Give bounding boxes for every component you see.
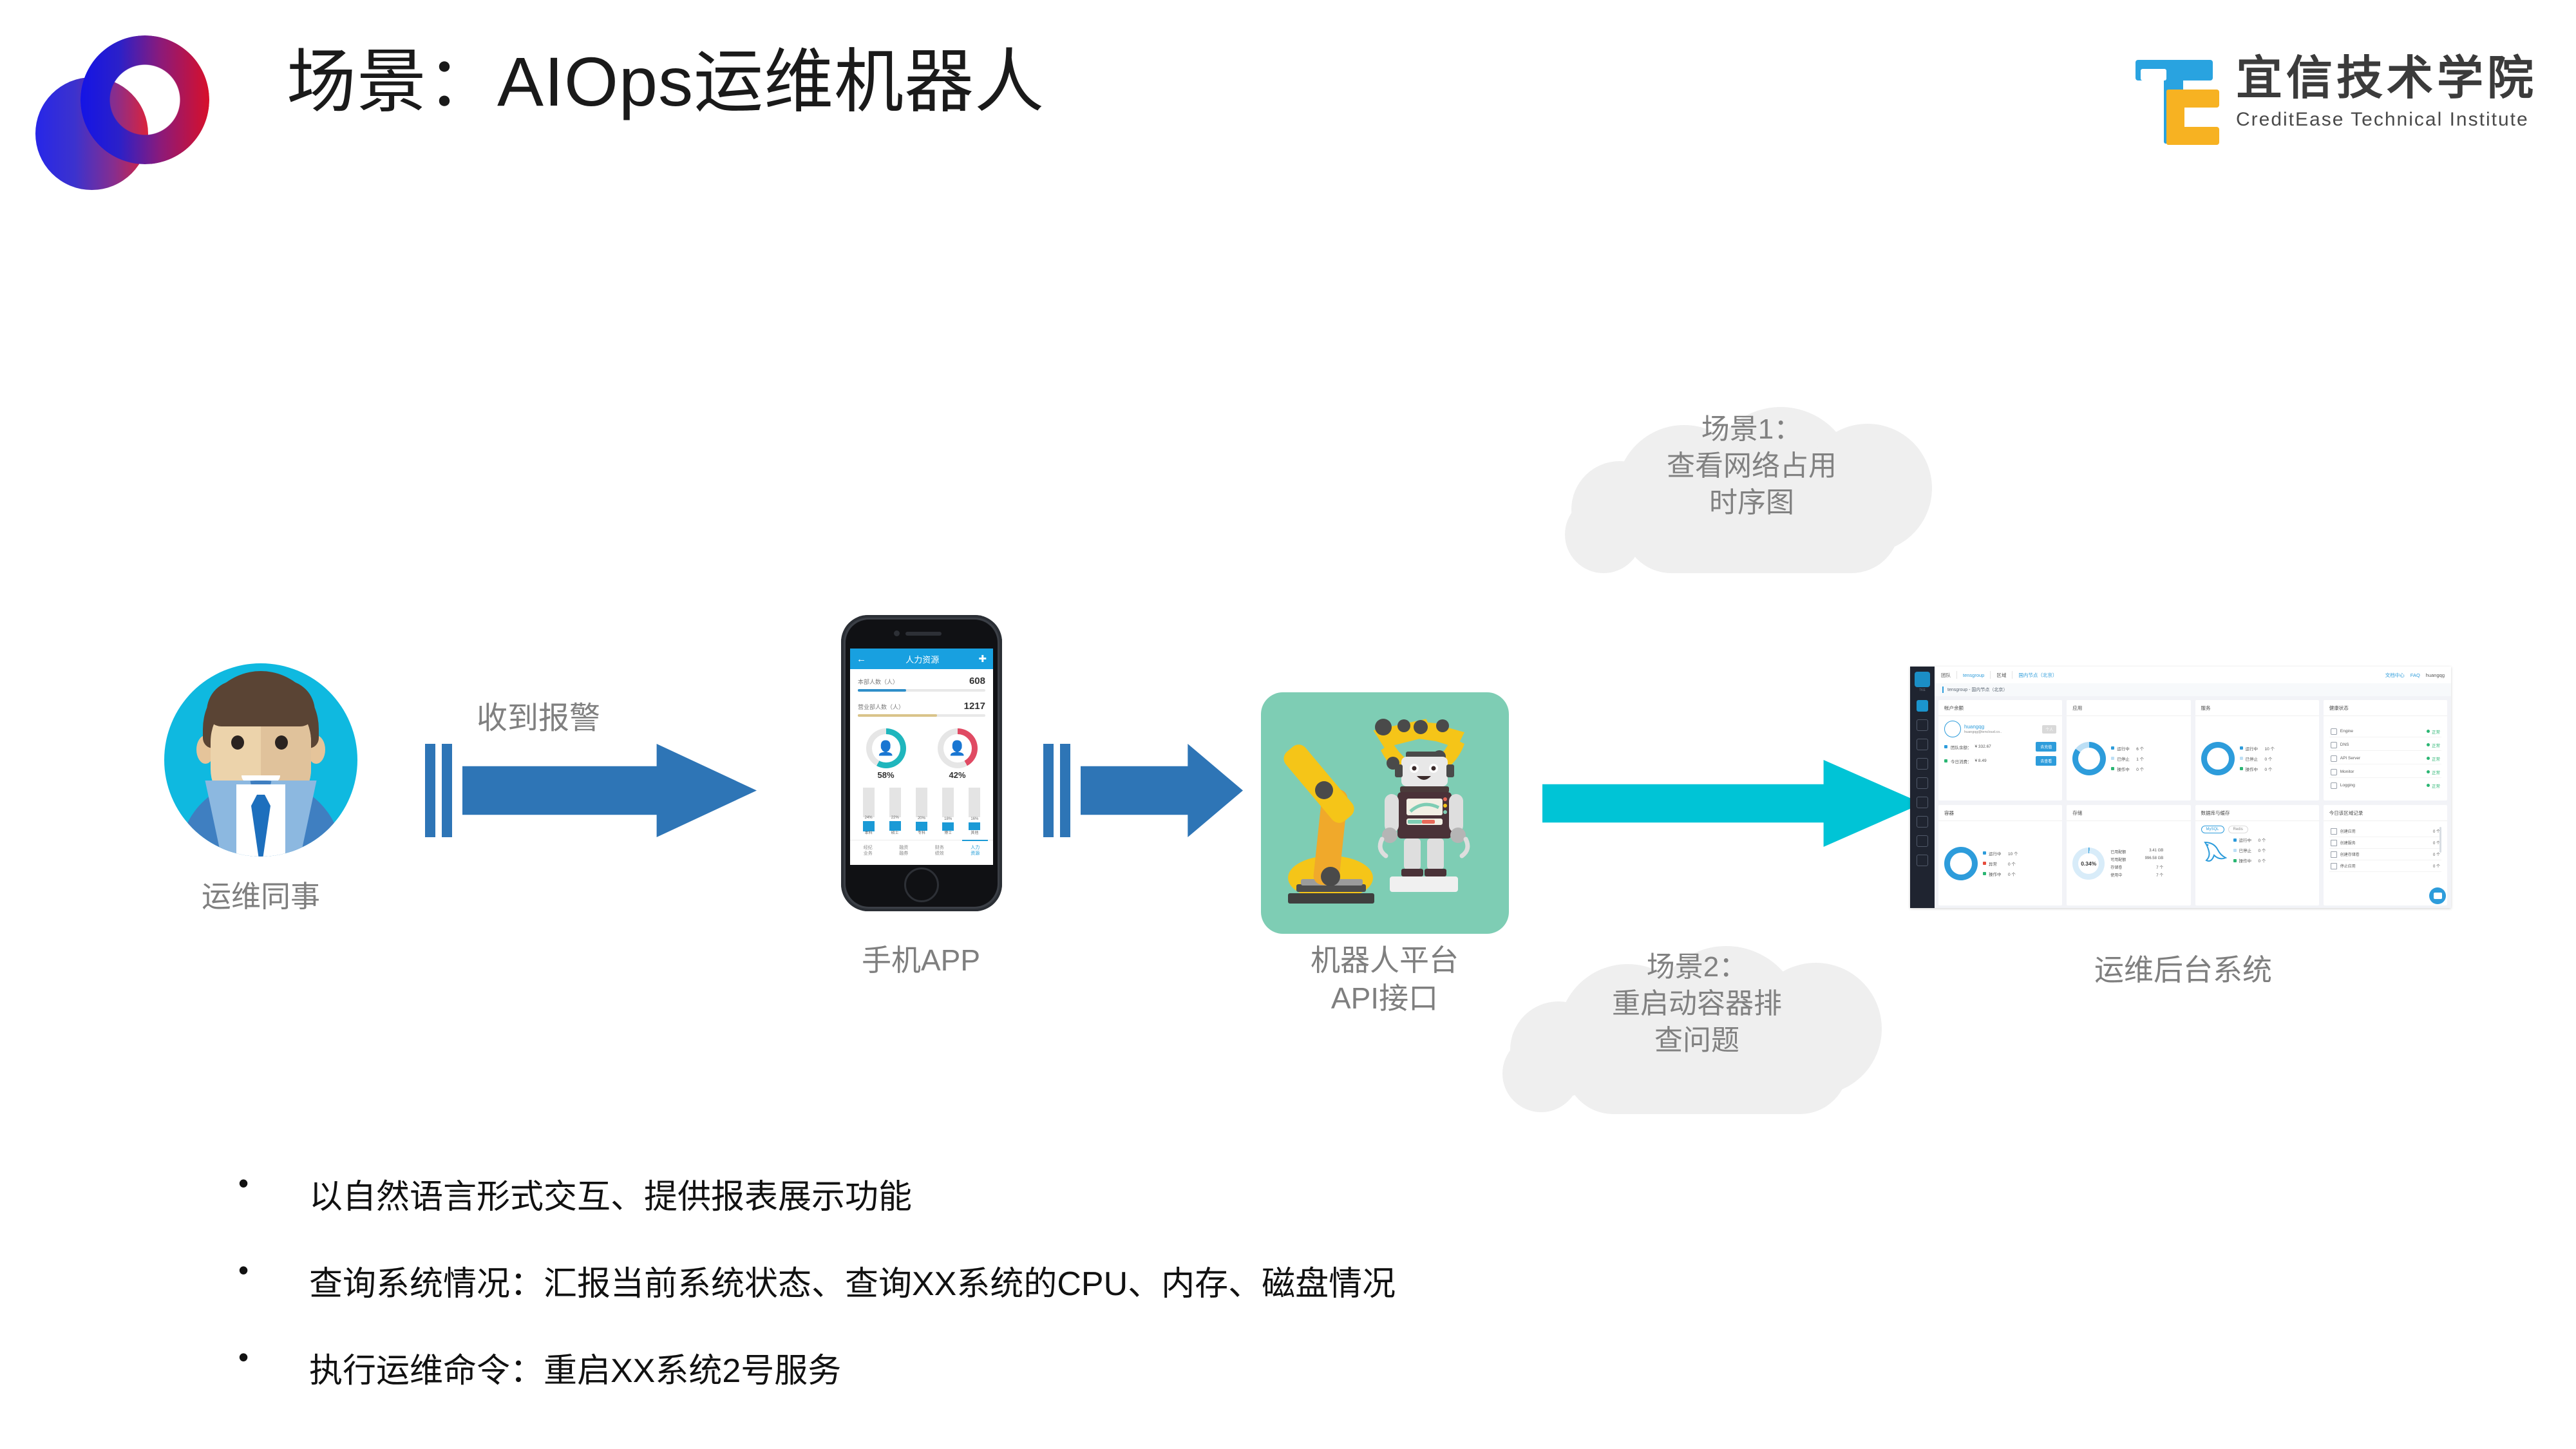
storage-value: 7 个 — [2156, 864, 2163, 870]
card-title: 应用 — [2067, 700, 2190, 716]
bar-percent: 24% — [861, 816, 876, 820]
bar-category: 硕士 — [887, 829, 903, 835]
bar-percent: 22% — [887, 816, 903, 820]
legend-name: 操作中 — [2246, 766, 2262, 772]
overlapping-circles-logo — [35, 35, 209, 196]
arrow-receive-alert — [425, 744, 757, 837]
sidebar-account-icon[interactable] — [1917, 835, 1928, 847]
bar-percent: 20% — [914, 817, 929, 820]
sidebar-apps-icon[interactable] — [1917, 719, 1928, 731]
bar-item: 20% 专科 — [914, 788, 929, 834]
gauge-male: 👤 58% — [862, 728, 910, 780]
sidebar-monitor-icon[interactable] — [1917, 816, 1928, 828]
tc-monogram-icon — [2136, 55, 2219, 145]
console-logo-label: TKE — [1910, 688, 1935, 692]
console-logo-icon — [1915, 672, 1930, 687]
legend-value: 10 个 — [2265, 745, 2275, 752]
legend-name: 运行中 — [2117, 745, 2134, 752]
ops-colleague: 运维同事 — [161, 663, 361, 916]
brand-name-en: CreditEase Technical Institute — [2236, 109, 2537, 131]
gauge-male-value: 58% — [862, 770, 910, 780]
legend-value: 0 个 — [2008, 871, 2016, 877]
breadcrumb: tensgroup - 国内节点（北京） — [1935, 683, 2451, 696]
tab-hr[interactable]: 人力资源 — [958, 840, 994, 865]
legend-name: 运行中 — [1989, 850, 2005, 857]
scenario-2-cloud: 场景2： 重启动容器排 查问题 — [1484, 937, 1909, 1117]
card-title: 数据库与缓存 — [2195, 805, 2319, 821]
tab-financing[interactable]: 融资融券 — [886, 840, 922, 865]
education-bar-chart: 24% 本科 22% 硕士 20% 专科 — [850, 788, 993, 834]
logo-ring — [80, 35, 209, 164]
card-title: 今日该区域记录 — [2324, 805, 2447, 821]
page-title: 场景：AIOps运维机器人 — [287, 40, 1045, 124]
sidebar-database-icon[interactable] — [1917, 777, 1928, 789]
health-status: 正常 — [2432, 782, 2440, 789]
record-name: 停止应用 — [2340, 863, 2430, 869]
recharge-button[interactable]: 去充值 — [2036, 742, 2056, 752]
storage-key: 可用配额 — [2110, 857, 2126, 862]
mobile-app-mockup: ← 人力资源 ✚ 本部人数（人） 608 营业部人数（人） 1217 — [841, 615, 1002, 911]
health-name: Logging — [2340, 783, 2423, 788]
tab-finance[interactable]: 财务绩效 — [922, 840, 958, 865]
today-spend-label: 今日消费： — [1951, 758, 1972, 764]
earpiece-speaker — [905, 632, 942, 636]
view-button[interactable]: 去查看 — [2036, 756, 2056, 766]
card-title: 容器 — [1938, 805, 2062, 821]
card-storage: 存储 0.34% 已用配额3.41 GB 可用配额996.58 GB 存储卷7 … — [2067, 805, 2190, 905]
api-server-icon — [2331, 755, 2337, 762]
card-applications: 应用 运行中6 个 已停止1 个 操作中0 个 — [2067, 700, 2190, 800]
health-name: Monitor — [2340, 770, 2423, 774]
plus-icon[interactable]: ✚ — [978, 653, 987, 665]
avatar — [1944, 721, 1961, 737]
mysql-dolphin-icon — [2201, 837, 2230, 863]
storage-value: 996.58 GB — [2145, 857, 2164, 862]
sidebar-service-icon[interactable] — [1917, 739, 1928, 750]
bar-category: 本科 — [861, 829, 876, 835]
app-header: ← 人力资源 ✚ — [850, 649, 993, 669]
sidebar-deploy-icon[interactable] — [1917, 855, 1928, 866]
list-item: 查询系统情况：汇报当前系统状态、查询XX系统的CPU、内存、磁盘情况 — [238, 1256, 2363, 1305]
bar-percent: 18% — [940, 817, 956, 821]
legend-value: 0 个 — [2259, 857, 2266, 864]
team-balance-value: ¥ 332.67 — [1975, 744, 1991, 749]
legend-name: 运行中 — [2239, 837, 2256, 843]
bar-item: 16% 其他 — [967, 788, 982, 834]
app-tabbar: 经纪业务 融资融券 财务绩效 人力资源 — [850, 840, 993, 865]
services-donut-chart — [2201, 742, 2235, 775]
bullet-list: 以自然语言形式交互、提供报表展示功能 查询系统情况：汇报当前系统状态、查询XX系… — [213, 1170, 2363, 1430]
storage-key: 已用配额 — [2110, 849, 2126, 855]
card-title: 健康状态 — [2324, 700, 2447, 716]
legend-value: 10 个 — [2008, 850, 2018, 857]
sidebar-storage-icon[interactable] — [1917, 797, 1928, 808]
legend-value: 0 个 — [2136, 766, 2144, 772]
ops-colleague-label: 运维同事 — [161, 873, 361, 916]
list-item: 执行运维命令：重启XX系统2号服务 — [238, 1343, 2363, 1392]
legend-name: 运行中 — [2246, 745, 2262, 752]
slide: 场景：AIOps运维机器人 宜信技术学院 CreditEase Technica… — [0, 0, 2576, 1449]
stop-app-icon — [2331, 863, 2337, 869]
card-health-status: 健康状态 Engine正常 DNS正常 API Server正常 Monitor… — [2324, 700, 2447, 800]
businessman-avatar-icon — [164, 663, 357, 857]
bar-category: 专科 — [914, 829, 929, 835]
user-menu[interactable]: huangqg — [2426, 672, 2445, 678]
stat-row: 营业部人数（人） 1217 — [850, 694, 993, 719]
legend-value: 0 个 — [2259, 847, 2266, 853]
record-name: 创建应用 — [2340, 828, 2430, 834]
legend-value: 1 个 — [2136, 755, 2144, 762]
legend-value: 0 个 — [2259, 837, 2266, 843]
card-services: 服务 运行中10 个 已停止0 个 操作中0 个 — [2195, 700, 2319, 800]
brand-name-cn: 宜信技术学院 — [2236, 55, 2537, 104]
record-name: 创建服务 — [2340, 840, 2430, 846]
apps-donut-chart — [2072, 742, 2106, 775]
monitor-icon — [2331, 769, 2337, 775]
chat-bubble-icon[interactable] — [2429, 887, 2446, 904]
team-label: 团队 — [1941, 672, 1951, 679]
brand-logo: 宜信技术学院 CreditEase Technical Institute — [2136, 55, 2537, 145]
console-sidebar: TKE — [1910, 667, 1935, 908]
tab-mysql[interactable]: MySQL — [2201, 826, 2224, 833]
legend-name: 操作中 — [1989, 871, 2005, 877]
bar-category: 其他 — [967, 829, 982, 835]
phone-screen: ← 人力资源 ✚ 本部人数（人） 608 营业部人数（人） 1217 — [850, 649, 993, 865]
female-user-icon: 👤 — [943, 734, 972, 762]
bar-item: 22% 硕士 — [887, 788, 903, 834]
engine-icon — [2331, 728, 2337, 735]
list-item: 以自然语言形式交互、提供报表展示功能 — [238, 1170, 2363, 1218]
bar-category: 博士 — [940, 829, 956, 835]
stat-value: 1217 — [964, 701, 985, 712]
bar-percent: 16% — [967, 817, 982, 821]
console-topbar: 团队 tensgroup 区域 国内节点（北京） 文档中心 FAQ huangq… — [1935, 667, 2451, 684]
arrow-to-dashboard — [1542, 760, 1922, 847]
arrow-to-robot — [1043, 744, 1243, 837]
stat-label: 本部人数（人） — [858, 677, 898, 686]
card-account-balance: 帐户余额 huangqg huangqg@tencloud.co.. 个人 — [1938, 700, 2062, 800]
legend-value: 0 个 — [2265, 766, 2273, 772]
scenario-1-cloud: 场景1： 查看网络占用 时序图 — [1546, 399, 1958, 573]
legend-value: 0 个 — [2008, 860, 2016, 867]
containers-donut-chart — [1944, 847, 1978, 880]
bar-item: 24% 本科 — [861, 788, 876, 834]
health-name: Engine — [2340, 729, 2423, 734]
card-today-records: 今日该区域记录 创建应用0 个 创建服务0 个 创建存储卷0 个 停止应用0 个 — [2324, 805, 2447, 905]
storage-key: 使用中 — [2110, 872, 2122, 878]
team-balance-label: 团队余额： — [1951, 744, 1972, 750]
health-status: 正常 — [2432, 728, 2440, 735]
bar-item: 18% 博士 — [940, 788, 956, 834]
card-title: 存储 — [2067, 805, 2190, 821]
faq-link[interactable]: FAQ — [2410, 672, 2420, 678]
dashboard-label: 运维后台系统 — [1932, 947, 2434, 989]
card-database-cache: 数据库与缓存 MySQL Redis 运行中0 个 已停止0 个 — [2195, 805, 2319, 905]
storage-percent: 0.34% — [2078, 853, 2099, 874]
card-title: 帐户余额 — [1938, 700, 2062, 716]
male-user-icon: 👤 — [872, 734, 900, 762]
storage-value: 7 个 — [2156, 872, 2163, 878]
storage-key: 存储卷 — [2110, 864, 2122, 870]
robot-platform-tile — [1261, 692, 1509, 934]
stat-value: 608 — [969, 676, 985, 687]
docs-link[interactable]: 文档中心 — [2385, 672, 2405, 679]
front-camera-icon — [894, 630, 900, 636]
card-title: 服务 — [2195, 700, 2319, 716]
legend-name: 已停止 — [2239, 847, 2256, 853]
record-name: 创建存储卷 — [2340, 851, 2430, 857]
stat-row: 本部人数（人） 608 — [850, 669, 993, 694]
home-button[interactable] — [904, 867, 939, 902]
create-app-icon — [2331, 828, 2337, 835]
create-service-icon — [2331, 840, 2337, 846]
health-status: 正常 — [2432, 755, 2440, 762]
storage-value: 3.41 GB — [2149, 849, 2163, 855]
tab-redis[interactable]: Redis — [2228, 826, 2248, 833]
app-title: 人力资源 — [905, 653, 939, 665]
team-selector[interactable]: tensgroup — [1963, 672, 1984, 678]
legend-name: 操作中 — [2239, 857, 2256, 864]
region-label: 区域 — [1996, 672, 2006, 679]
arrow1-label: 收到报警 — [477, 692, 600, 737]
ops-console-screenshot: TKE 团队 tensgroup 区域 国内节点（北京） 文档中心 FAQ hu… — [1910, 667, 2451, 908]
health-name: DNS — [2340, 743, 2423, 747]
create-volume-icon — [2331, 851, 2337, 858]
card-containers: 容器 运行中10 个 异常0 个 操作中0 个 — [1938, 805, 2062, 905]
arrow-left-icon[interactable]: ← — [857, 654, 866, 665]
health-status: 正常 — [2432, 742, 2440, 748]
legend-value: 0 个 — [2265, 755, 2273, 762]
legend-name: 已停止 — [2117, 755, 2134, 762]
storage-donut-chart: 0.34% — [2072, 848, 2105, 880]
legend-name: 异常 — [1989, 860, 2005, 867]
phone-label: 手机APP — [766, 937, 1075, 980]
robot-arm-and-robot-icon — [1261, 692, 1509, 934]
tab-brokerage[interactable]: 经纪业务 — [850, 840, 886, 865]
sidebar-overview-icon[interactable] — [1917, 700, 1928, 712]
scrollbar[interactable] — [2439, 827, 2441, 853]
stat-label: 营业部人数（人） — [858, 703, 904, 711]
account-username: huangqg — [1964, 724, 1984, 730]
account-email: huangqg@tencloud.co.. — [1964, 730, 2002, 734]
health-status: 正常 — [2432, 769, 2440, 775]
gauge-female: 👤 42% — [934, 728, 981, 780]
today-spend-value: ¥ 8.49 — [1975, 759, 1987, 763]
health-name: API Server — [2340, 756, 2423, 761]
legend-name: 操作中 — [2117, 766, 2134, 772]
record-value: 0 个 — [2433, 863, 2440, 869]
gauge-female-value: 42% — [934, 770, 981, 780]
region-selector[interactable]: 国内节点（北京） — [2018, 672, 2057, 679]
account-type-badge: 个人 — [2042, 725, 2056, 734]
legend-name: 已停止 — [2246, 755, 2262, 762]
legend-value: 6 个 — [2136, 745, 2144, 752]
gauge-group: 👤 58% 👤 42% — [850, 728, 993, 780]
sidebar-network-icon[interactable] — [1917, 758, 1928, 770]
logging-icon — [2331, 782, 2337, 789]
dns-icon — [2331, 742, 2337, 748]
